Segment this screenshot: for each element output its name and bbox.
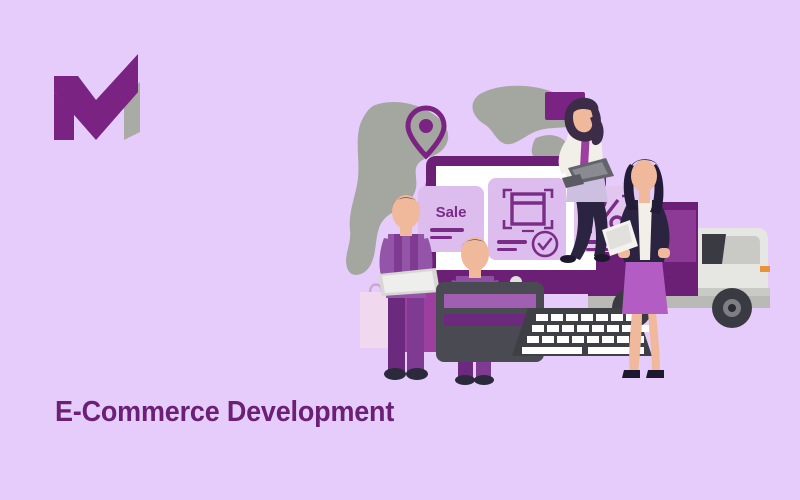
ecommerce-illustration: Sale	[340, 60, 790, 390]
m-logo[interactable]	[48, 48, 144, 140]
page-title: E-Commerce Development	[55, 396, 394, 429]
sale-card-label: Sale	[436, 204, 467, 221]
banner: E-Commerce Development	[0, 0, 800, 500]
m-logo-icon	[48, 48, 144, 140]
product-card[interactable]	[488, 178, 566, 260]
